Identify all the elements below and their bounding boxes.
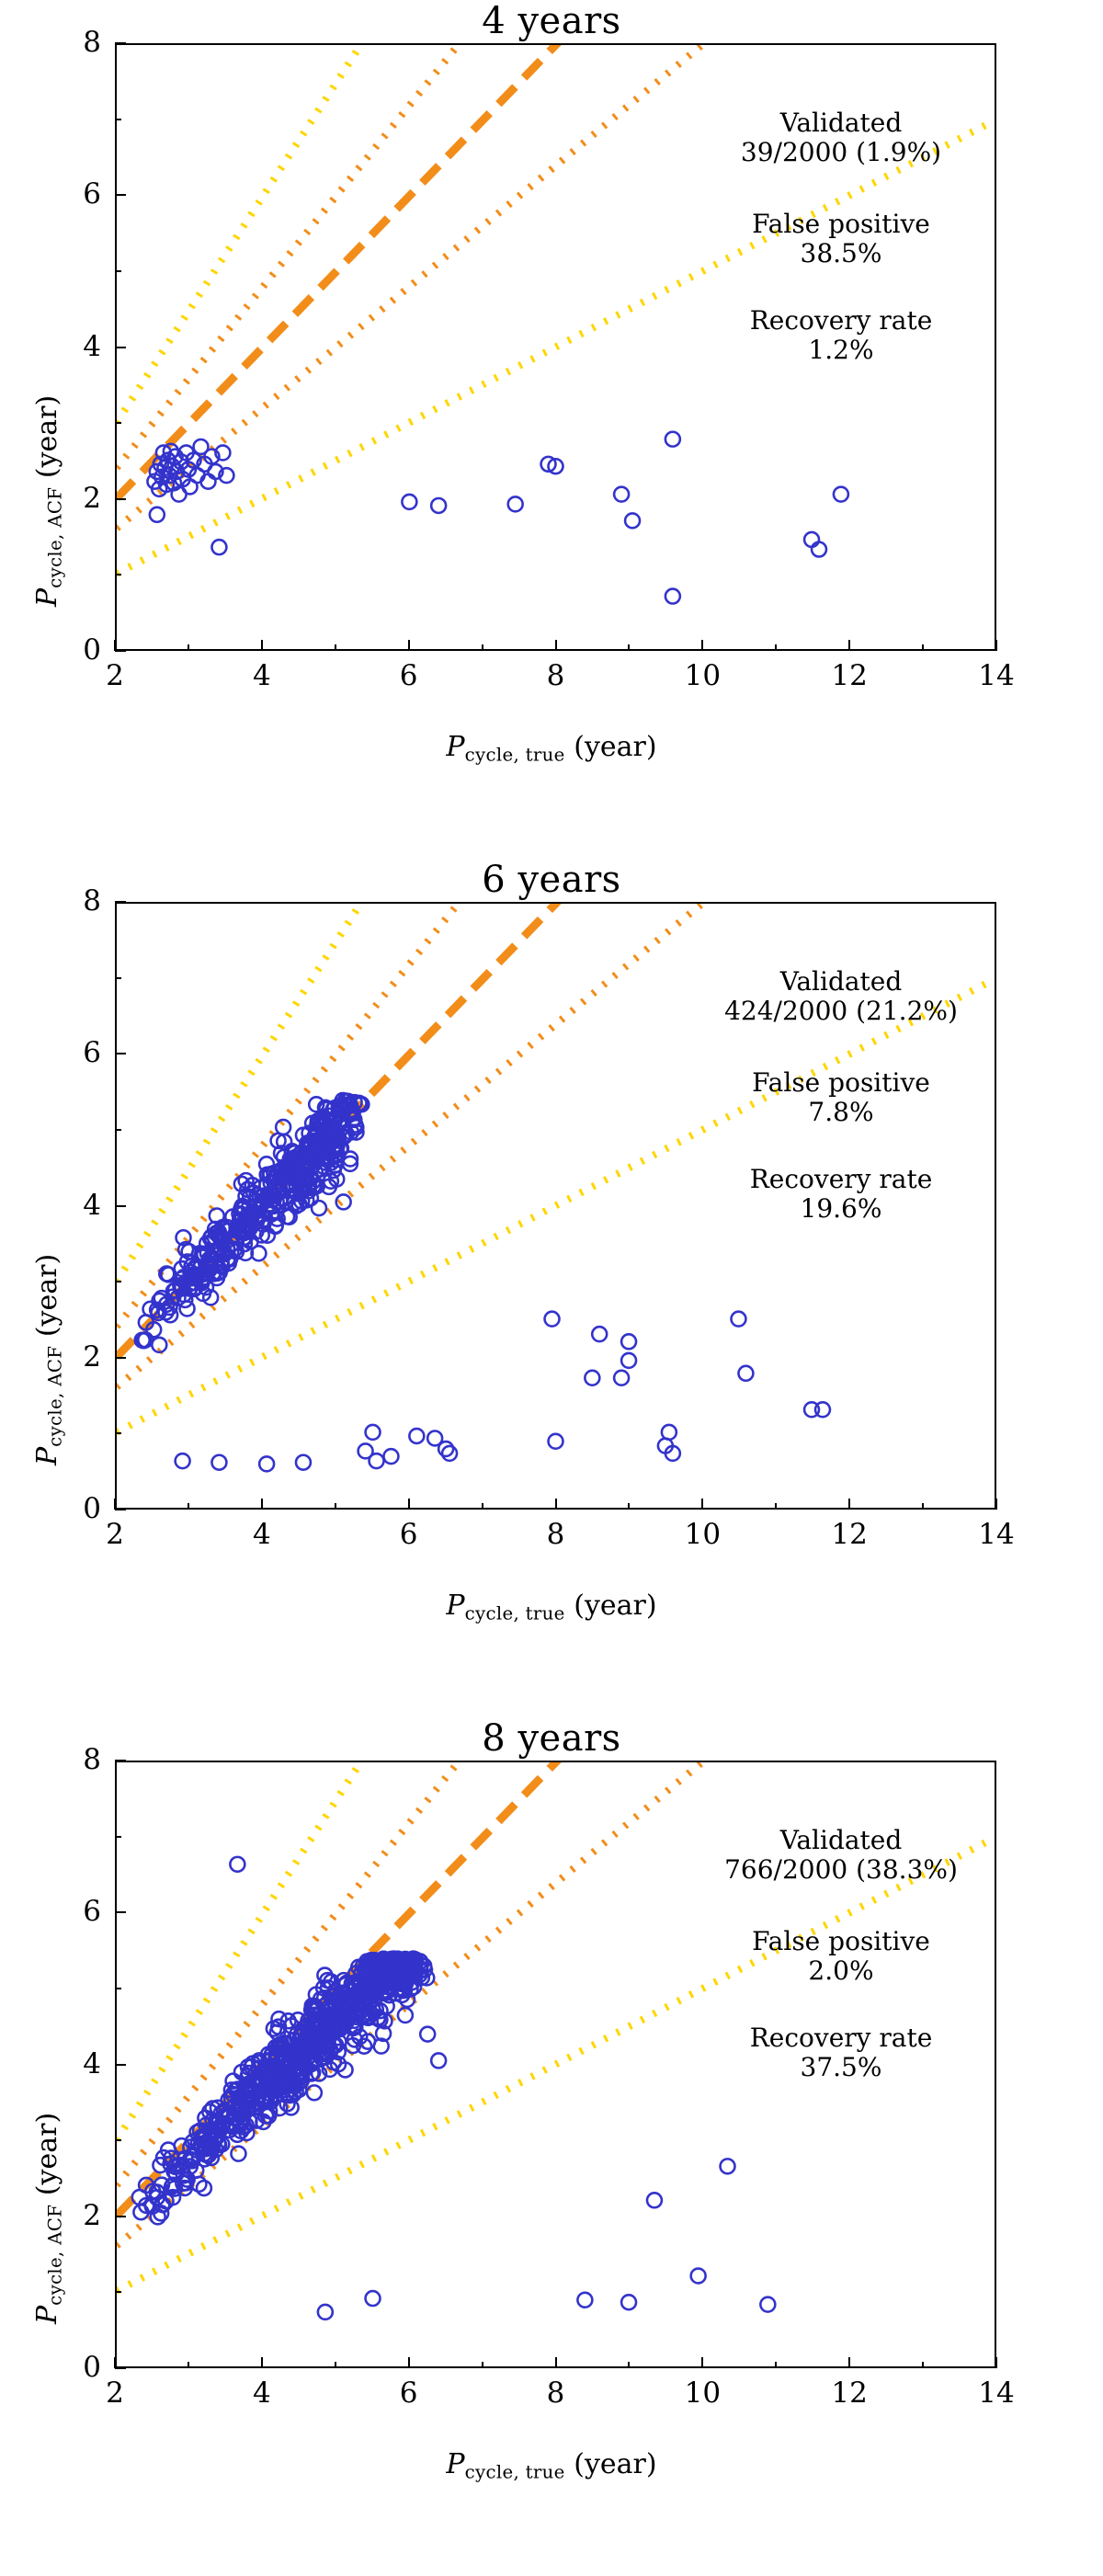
scatter-point xyxy=(402,495,416,509)
x-axis-tick xyxy=(995,1499,997,1510)
x-axis-tick-label: 8 xyxy=(519,662,593,690)
y-axis-tick xyxy=(115,2216,126,2217)
x-axis-tick xyxy=(261,2357,263,2368)
x-axis-minor-tick xyxy=(922,2362,924,2368)
scatter-point xyxy=(577,2293,592,2308)
x-axis-tick xyxy=(261,1499,263,1510)
scatter-point xyxy=(259,1456,274,1471)
x-axis-minor-tick xyxy=(482,1503,483,1510)
false-positive-value: 38.5% xyxy=(689,239,993,268)
x-axis-tick-label: 10 xyxy=(665,1521,739,1549)
x-axis-symbol: P xyxy=(446,731,464,763)
y-axis-title: Pcycle, ACF (year) xyxy=(31,395,66,607)
panel-8-years: 8 years 02468 2468101214 Validated 766/2… xyxy=(0,1717,1103,2576)
y-axis-symbol: P xyxy=(31,1447,63,1465)
x-axis-tick xyxy=(995,640,997,651)
y-axis-tick xyxy=(115,1053,126,1054)
y-axis-minor-tick xyxy=(115,422,121,424)
scatter-point xyxy=(150,507,165,522)
x-axis-minor-tick xyxy=(775,644,777,651)
y-axis-tick-label: 6 xyxy=(37,180,101,209)
scatter-point xyxy=(691,2269,706,2284)
x-axis-tick xyxy=(848,2357,850,2368)
y-axis-unit: (year) xyxy=(31,395,63,478)
x-axis-tick-label: 6 xyxy=(372,2379,446,2408)
scatter-point xyxy=(647,2193,662,2207)
x-axis-tick xyxy=(408,2357,410,2368)
annotation-false-positive: False positive 7.8% xyxy=(689,1068,993,1128)
y-axis-title: Pcycle, ACF (year) xyxy=(31,2113,66,2324)
y-axis-minor-tick xyxy=(115,270,121,272)
x-axis-tick-label: 10 xyxy=(665,662,739,690)
scatter-point xyxy=(665,589,680,604)
annotation-recovery-rate: Recovery rate 19.6% xyxy=(689,1165,993,1225)
scatter-series xyxy=(147,432,847,604)
x-axis-subscript: cycle, true xyxy=(465,1603,565,1624)
x-axis-tick xyxy=(701,640,703,651)
y-axis-tick xyxy=(115,1205,126,1207)
false-positive-value: 2.0% xyxy=(689,1956,993,1986)
x-axis-minor-tick xyxy=(335,1503,336,1510)
x-axis-tick xyxy=(848,640,850,651)
x-axis-tick-label: 2 xyxy=(78,2379,152,2408)
y-axis-symbol: P xyxy=(31,588,63,607)
y-axis-minor-tick xyxy=(115,119,121,120)
x-axis-minor-tick xyxy=(188,2362,189,2368)
figure-root: 4 years 02468 2468101214 Validated 39/20… xyxy=(0,0,1103,2576)
scatter-point xyxy=(508,496,523,511)
x-axis-title: Pcycle, true (year) xyxy=(55,731,1048,766)
x-axis-minor-tick xyxy=(922,1503,924,1510)
y-axis-minor-tick xyxy=(115,1129,121,1131)
panel-title: 8 years xyxy=(0,1717,1103,1760)
x-axis-tick xyxy=(408,1499,410,1510)
y-axis-unit: (year) xyxy=(31,1254,63,1337)
scatter-point xyxy=(296,1455,311,1470)
scatter-point xyxy=(614,487,629,502)
scatter-point xyxy=(621,2295,636,2309)
scatter-point xyxy=(276,1120,290,1134)
scatter-point xyxy=(176,1453,190,1468)
scatter-point xyxy=(549,1434,563,1449)
y-axis-subscript: cycle, ACF xyxy=(45,487,66,588)
scatter-point xyxy=(815,1402,830,1417)
x-axis-minor-tick xyxy=(628,644,630,651)
x-axis-minor-tick xyxy=(775,1503,777,1510)
y-axis-tick xyxy=(115,2367,126,2369)
x-axis-minor-tick xyxy=(188,1503,189,1510)
scatter-point xyxy=(180,1302,195,1316)
scatter-point xyxy=(370,1453,384,1468)
x-axis-tick-label: 14 xyxy=(960,2379,1033,2408)
y-axis-tick xyxy=(115,901,126,903)
validated-label: Validated xyxy=(689,967,993,997)
x-axis-tick-label: 12 xyxy=(813,662,886,690)
y-axis-tick xyxy=(115,498,126,500)
false-positive-value: 7.8% xyxy=(689,1098,993,1127)
scatter-series xyxy=(135,1093,830,1471)
scatter-point xyxy=(211,1455,226,1470)
recovery-value: 1.2% xyxy=(689,336,993,365)
y-axis-minor-tick xyxy=(115,1988,121,1989)
y-axis-tick-label: 8 xyxy=(37,1746,101,1774)
annotation-validated: Validated 39/2000 (1.9%) xyxy=(689,108,993,168)
false-positive-label: False positive xyxy=(689,210,993,239)
y-axis-title: Pcycle, ACF (year) xyxy=(31,1254,66,1465)
panel-title: 4 years xyxy=(0,0,1103,42)
x-axis-minor-tick xyxy=(628,1503,630,1510)
x-axis-minor-tick xyxy=(335,644,336,651)
scatter-point xyxy=(318,2305,333,2320)
x-axis-tick-label: 14 xyxy=(960,662,1033,690)
x-axis-symbol: P xyxy=(446,2448,464,2480)
scatter-point xyxy=(230,1857,244,1872)
scatter-point xyxy=(621,1334,636,1349)
y-axis-minor-tick xyxy=(115,2139,121,2141)
validated-value: 424/2000 (21.2%) xyxy=(689,997,993,1026)
x-axis-tick xyxy=(114,1499,116,1510)
x-axis-title: Pcycle, true (year) xyxy=(55,2448,1048,2483)
y-axis-tick xyxy=(115,1357,126,1359)
annotation-validated: Validated 424/2000 (21.2%) xyxy=(689,967,993,1027)
x-axis-tick xyxy=(701,2357,703,2368)
x-axis-subscript: cycle, true xyxy=(465,2462,565,2483)
x-axis-minor-tick xyxy=(482,644,483,651)
recovery-value: 19.6% xyxy=(689,1194,993,1224)
scatter-point xyxy=(307,2085,322,2100)
x-axis-minor-tick xyxy=(335,2362,336,2368)
x-axis-tick-label: 8 xyxy=(519,1521,593,1549)
x-axis-tick-label: 6 xyxy=(372,1521,446,1549)
y-axis-tick-label: 6 xyxy=(37,1039,101,1067)
y-axis-tick xyxy=(115,2064,126,2066)
x-axis-tick xyxy=(701,1499,703,1510)
scatter-point xyxy=(585,1371,599,1385)
y-axis-subscript: cycle, ACF xyxy=(45,2205,66,2306)
scatter-point xyxy=(614,1371,629,1385)
x-axis-unit: (year) xyxy=(574,731,656,763)
y-axis-tick xyxy=(115,194,126,196)
y-axis-tick xyxy=(115,42,126,44)
scatter-point xyxy=(625,513,640,528)
y-axis-minor-tick xyxy=(115,1836,121,1838)
x-axis-tick xyxy=(408,640,410,651)
x-axis-title: Pcycle, true (year) xyxy=(55,1590,1048,1624)
scatter-point xyxy=(804,532,819,547)
x-axis-tick-label: 6 xyxy=(372,662,446,690)
y-axis-minor-tick xyxy=(115,977,121,979)
scatter-point xyxy=(621,1353,636,1368)
y-axis-tick-label: 4 xyxy=(37,1191,101,1220)
false-positive-label: False positive xyxy=(689,1927,993,1956)
recovery-label: Recovery rate xyxy=(689,306,993,336)
y-axis-unit: (year) xyxy=(31,2113,63,2195)
scatter-point xyxy=(383,1449,398,1464)
scatter-point xyxy=(721,2159,735,2173)
scatter-point xyxy=(834,487,848,502)
scatter-point xyxy=(665,432,680,447)
y-axis-tick-label: 0 xyxy=(37,1495,101,1523)
y-axis-tick-label: 0 xyxy=(37,636,101,665)
x-axis-tick xyxy=(995,2357,997,2368)
false-positive-label: False positive xyxy=(689,1068,993,1098)
scatter-point xyxy=(312,1201,326,1215)
x-axis-tick-label: 14 xyxy=(960,1521,1033,1549)
x-axis-tick-label: 4 xyxy=(225,1521,299,1549)
annotation-recovery-rate: Recovery rate 37.5% xyxy=(689,2023,993,2083)
x-axis-tick-label: 2 xyxy=(78,662,152,690)
x-axis-tick-label: 10 xyxy=(665,2379,739,2408)
x-axis-tick xyxy=(555,1499,557,1510)
y-axis-tick-label: 4 xyxy=(37,333,101,361)
annotation-false-positive: False positive 2.0% xyxy=(689,1927,993,1987)
y-axis-tick xyxy=(115,1509,126,1510)
x-axis-tick xyxy=(114,2357,116,2368)
panel-6-years: 6 years 02468 2468101214 Validated 424/2… xyxy=(0,859,1103,1717)
x-axis-tick-label: 8 xyxy=(519,2379,593,2408)
y-axis-minor-tick xyxy=(115,574,121,576)
x-axis-tick xyxy=(114,640,116,651)
scatter-point xyxy=(211,540,226,554)
y-axis-minor-tick xyxy=(115,2291,121,2293)
recovery-label: Recovery rate xyxy=(689,1165,993,1194)
y-axis-tick xyxy=(115,1760,126,1761)
scatter-point xyxy=(545,1312,560,1327)
scatter-point xyxy=(431,2053,446,2068)
scatter-series xyxy=(132,1857,775,2320)
y-axis-tick xyxy=(115,1911,126,1913)
y-axis-tick-label: 6 xyxy=(37,1898,101,1926)
x-axis-tick-label: 4 xyxy=(225,2379,299,2408)
x-axis-tick-label: 2 xyxy=(78,1521,152,1549)
y-axis-subscript: cycle, ACF xyxy=(45,1346,66,1447)
x-axis-tick xyxy=(555,2357,557,2368)
x-axis-tick xyxy=(261,640,263,651)
x-axis-minor-tick xyxy=(482,2362,483,2368)
scatter-point xyxy=(760,2297,775,2312)
y-axis-tick-label: 8 xyxy=(37,28,101,57)
scatter-point xyxy=(592,1327,607,1341)
x-axis-minor-tick xyxy=(188,644,189,651)
y-axis-tick-label: 8 xyxy=(37,887,101,916)
x-axis-tick-label: 4 xyxy=(225,662,299,690)
y-axis-symbol: P xyxy=(31,2306,63,2324)
annotation-validated: Validated 766/2000 (38.3%) xyxy=(689,1826,993,1886)
scatter-point xyxy=(732,1312,746,1327)
scatter-point xyxy=(812,542,826,557)
y-axis-minor-tick xyxy=(115,1281,121,1282)
validated-label: Validated xyxy=(689,1826,993,1855)
scatter-point xyxy=(431,498,446,513)
x-axis-tick-label: 12 xyxy=(813,1521,886,1549)
scatter-point xyxy=(662,1425,677,1440)
recovery-label: Recovery rate xyxy=(689,2023,993,2053)
x-axis-minor-tick xyxy=(922,644,924,651)
x-axis-unit: (year) xyxy=(574,2448,656,2480)
scatter-point xyxy=(366,2291,381,2306)
y-axis-tick xyxy=(115,347,126,348)
x-axis-subscript: cycle, true xyxy=(465,745,565,766)
y-axis-minor-tick xyxy=(115,1432,121,1434)
x-axis-tick-label: 12 xyxy=(813,2379,886,2408)
x-axis-symbol: P xyxy=(446,1590,464,1622)
y-axis-tick-label: 4 xyxy=(37,2050,101,2079)
x-axis-tick xyxy=(848,1499,850,1510)
scatter-point xyxy=(420,2027,435,2042)
scatter-point xyxy=(409,1429,424,1443)
scatter-point xyxy=(442,1446,457,1461)
y-axis-tick-label: 0 xyxy=(37,2354,101,2382)
scatter-point xyxy=(438,1442,453,1456)
scatter-point xyxy=(366,1425,381,1440)
scatter-point xyxy=(231,2147,245,2161)
x-axis-tick xyxy=(555,640,557,651)
annotation-recovery-rate: Recovery rate 1.2% xyxy=(689,306,993,366)
scatter-point xyxy=(738,1366,753,1381)
x-axis-minor-tick xyxy=(628,2362,630,2368)
y-axis-tick xyxy=(115,650,126,652)
recovery-value: 37.5% xyxy=(689,2053,993,2082)
panel-title: 6 years xyxy=(0,859,1103,901)
validated-value: 39/2000 (1.9%) xyxy=(689,138,993,167)
validated-label: Validated xyxy=(689,108,993,138)
x-axis-minor-tick xyxy=(775,2362,777,2368)
validated-value: 766/2000 (38.3%) xyxy=(689,1855,993,1885)
annotation-false-positive: False positive 38.5% xyxy=(689,210,993,269)
x-axis-unit: (year) xyxy=(574,1590,656,1622)
panel-4-years: 4 years 02468 2468101214 Validated 39/20… xyxy=(0,0,1103,859)
